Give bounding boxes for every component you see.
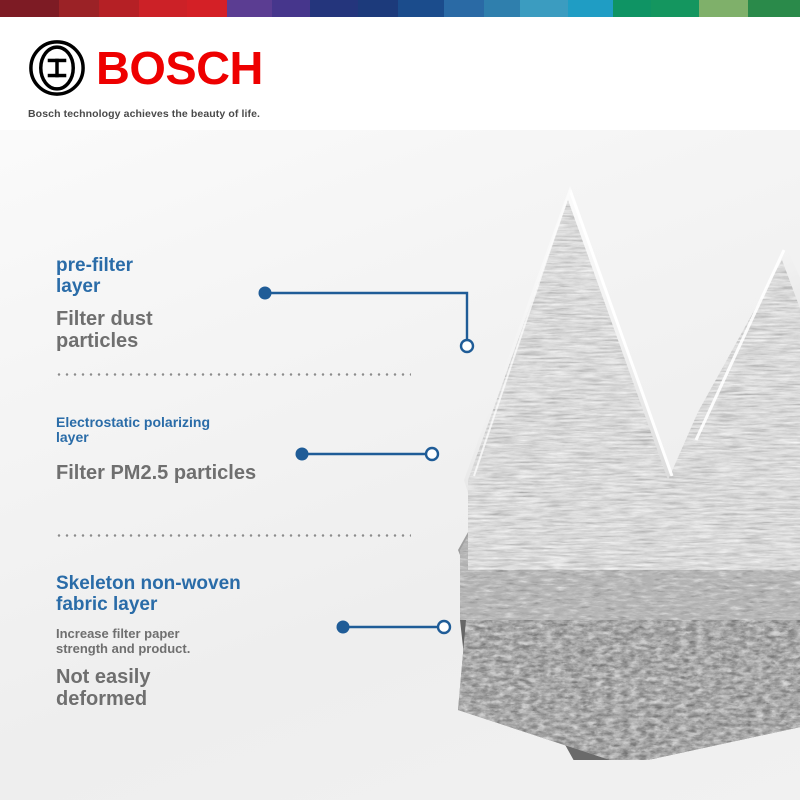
color-bar-segment-deep-blue <box>358 0 398 17</box>
page-header: BOSCH Bosch technology achieves the beau… <box>0 17 800 130</box>
bosch-wordmark: BOSCH <box>96 45 263 91</box>
annotation-skeleton-non-woven-fabric-layer: Skeleton non-woven fabric layer Increase… <box>56 574 386 710</box>
leader-dot-filled <box>296 448 309 461</box>
annotation-body-skeleton-non-woven-fabric-layer: Not easily deformed <box>56 667 386 710</box>
color-bar-segment-purple <box>227 0 273 17</box>
color-bar-segment-cyan-blue <box>520 0 568 17</box>
leader-dot-open <box>438 621 450 633</box>
color-bar-segment-teal-cyan <box>568 0 614 17</box>
pleated-air-filter-photo <box>430 150 800 760</box>
leader-dot-filled <box>259 287 272 300</box>
leader-dot-open <box>461 340 473 352</box>
leader-line-electrostatic <box>292 442 452 468</box>
color-bar-segment-brick-red <box>59 0 99 17</box>
color-bar-segment-green <box>651 0 699 17</box>
color-bar-segment-teal-green <box>613 0 651 17</box>
bosch-tagline: Bosch technology achieves the beauty of … <box>28 108 260 120</box>
color-bar-segment-crimson <box>99 0 139 17</box>
page-root: BOSCH Bosch technology achieves the beau… <box>0 0 800 800</box>
section-divider-2 <box>55 534 411 537</box>
color-bar-segment-dark-maroon <box>0 0 59 17</box>
color-bar-segment-medium-blue <box>484 0 520 17</box>
color-bar-segment-red <box>187 0 227 17</box>
annotation-title-skeleton-non-woven-fabric-layer: Skeleton non-woven fabric layer <box>56 574 386 615</box>
color-bar-segment-forest-green <box>748 0 799 17</box>
white-fibrous-prefilter-layer <box>430 170 800 590</box>
color-bar-segment-royal-blue <box>398 0 444 17</box>
color-bar-segment-bright-red <box>139 0 187 17</box>
bosch-logo[interactable]: BOSCH Bosch technology achieves the beau… <box>24 39 284 129</box>
color-bar-segment-steel-blue <box>444 0 484 17</box>
color-bar-segment-navy <box>310 0 358 17</box>
section-divider-1 <box>55 373 411 376</box>
color-bar-segment-light-green <box>699 0 749 17</box>
bosch-armature-icon <box>28 39 86 97</box>
brand-color-bar <box>0 0 800 17</box>
leader-line-pre-filter <box>250 275 490 370</box>
leader-line-skeleton <box>333 615 463 641</box>
annotation-title-electrostatic-polarizing-layer: Electrostatic polarizing layer <box>56 415 386 445</box>
leader-dot-filled <box>337 621 350 634</box>
leader-dot-open <box>426 448 438 460</box>
color-bar-segment-indigo <box>272 0 310 17</box>
